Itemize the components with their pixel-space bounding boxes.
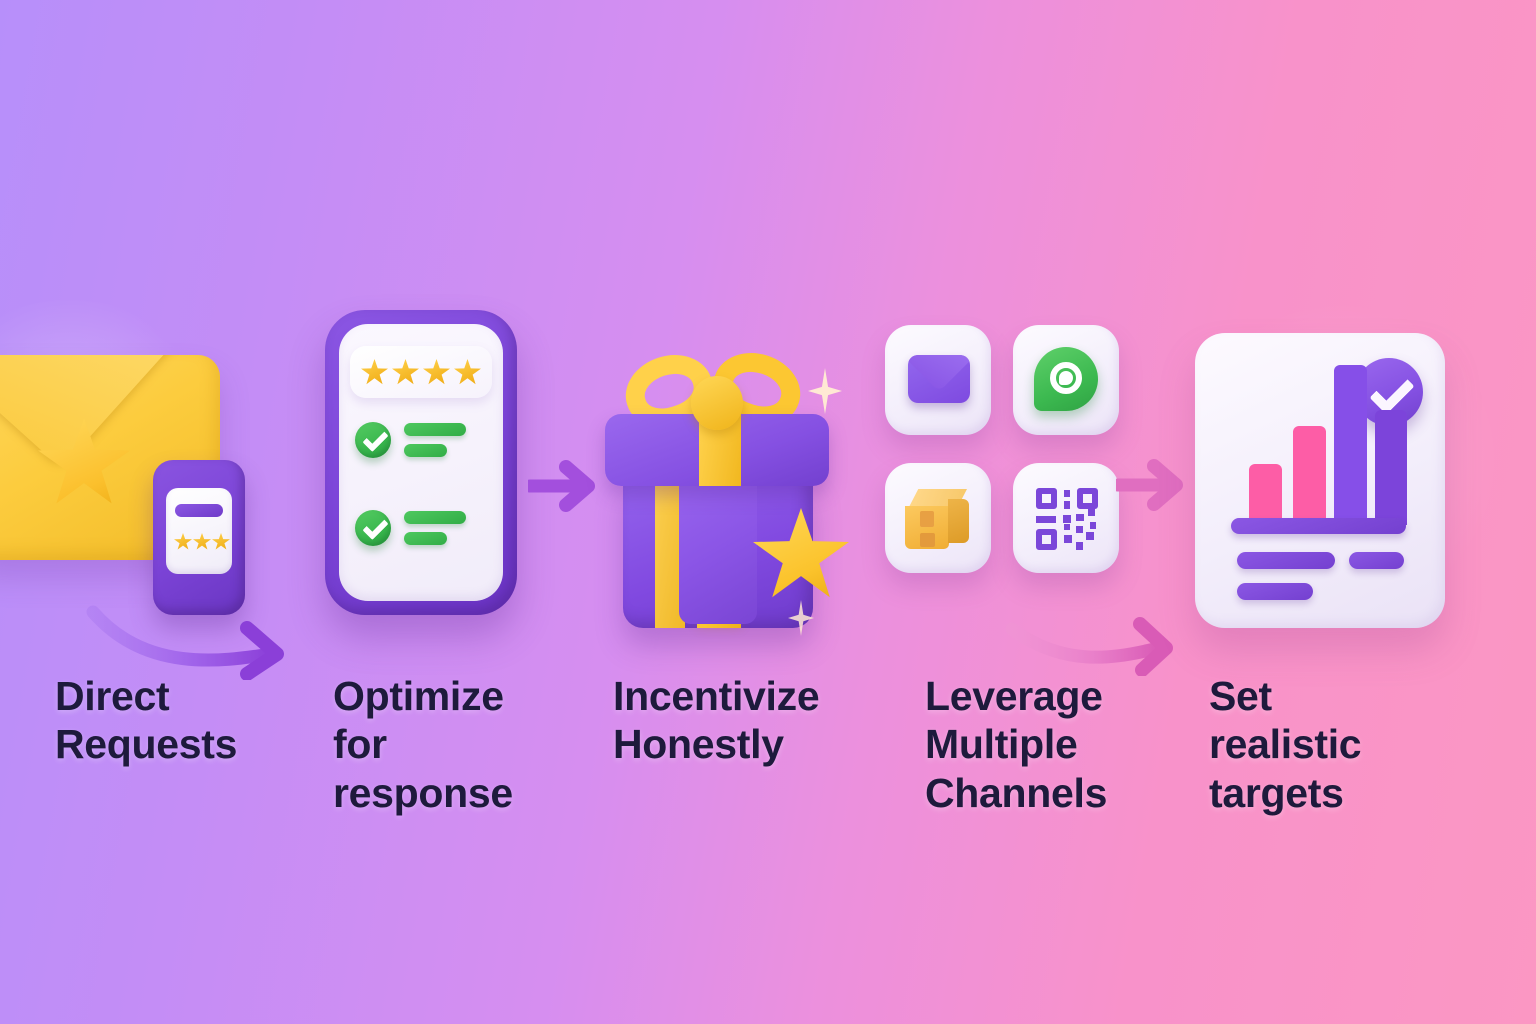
text-line (404, 423, 466, 436)
text-line (1237, 552, 1335, 569)
star-icon (212, 533, 230, 550)
checklist-text-lines (404, 423, 466, 457)
envelope-icon (908, 355, 970, 403)
whatsapp-tile[interactable] (1013, 325, 1119, 435)
checklist-item (355, 422, 466, 458)
mini-card-bar (175, 504, 223, 517)
chart-bar (1293, 426, 1326, 525)
star-icon (423, 359, 450, 385)
star-icon (392, 359, 419, 385)
rating-stars-group (350, 346, 492, 398)
star-icon (193, 533, 211, 550)
checklist-item (355, 510, 466, 546)
phone-checklist-icon (325, 310, 517, 615)
package-tile[interactable] (885, 463, 991, 573)
email-tile[interactable] (885, 325, 991, 435)
chart-bar (1249, 464, 1282, 525)
step-label-optimize-for-response: Optimize for response (333, 672, 513, 817)
infographic-canvas: Direct Requests (0, 0, 1536, 1024)
text-line (1349, 552, 1404, 569)
envelope-star-icon (0, 355, 250, 585)
report-chart-icon (1195, 333, 1445, 628)
chart-baseline (1231, 518, 1406, 534)
step-label-direct-requests: Direct Requests (55, 672, 237, 769)
package-box-icon (905, 489, 973, 549)
step-label-leverage-multiple-channels: Leverage Multiple Channels (925, 672, 1107, 817)
gift-box-icon (595, 340, 855, 630)
text-line (1237, 583, 1313, 600)
qr-tile[interactable] (1013, 463, 1119, 573)
checklist-text-lines (404, 511, 466, 545)
arrow-4-curved-icon (1000, 596, 1190, 676)
whatsapp-icon (1034, 347, 1098, 411)
gift-bow-knot (691, 376, 743, 430)
check-circle-icon (355, 422, 391, 458)
text-line (404, 532, 447, 545)
channel-tiles-icon (885, 325, 1115, 580)
text-line (404, 511, 466, 524)
star-icon (361, 359, 388, 385)
text-line (404, 444, 447, 457)
check-circle-icon (355, 510, 391, 546)
box-tape (920, 511, 934, 527)
arrow-3-straight-icon (1116, 452, 1198, 516)
mini-card-face (166, 488, 232, 574)
star-icon (454, 359, 481, 385)
box-tape (920, 533, 935, 547)
star-icon (174, 533, 192, 550)
chart-bar (1375, 410, 1407, 525)
box-side-face (948, 499, 969, 543)
step-label-set-realistic-targets: Set realistic targets (1209, 672, 1361, 817)
chart-bar (1334, 365, 1367, 525)
step-label-incentivize-honestly: Incentivize Honestly (613, 672, 819, 769)
qr-code-icon (1036, 488, 1098, 550)
mini-review-card (153, 460, 245, 615)
mini-card-stars (174, 533, 230, 550)
phone-screen (339, 324, 503, 601)
